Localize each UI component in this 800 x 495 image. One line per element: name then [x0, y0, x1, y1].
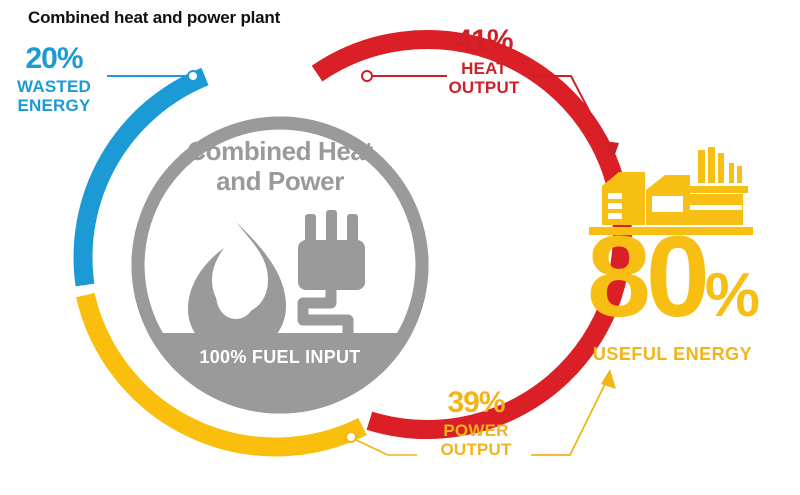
- useful-energy-percent-sign: %: [705, 261, 758, 330]
- useful-energy-value: 80: [587, 213, 705, 341]
- wasted-label-2: ENERGY: [4, 97, 104, 114]
- callout-wasted-energy: 20% WASTED ENERGY: [4, 44, 104, 114]
- center-heading-line-1: Combined Heat: [150, 136, 410, 166]
- power-label-1: POWER: [420, 422, 532, 439]
- useful-energy-number: 80%: [565, 227, 780, 346]
- center-heading: Combined Heat and Power: [150, 136, 410, 196]
- useful-energy-label: USEFUL ENERGY: [565, 344, 780, 365]
- center-heading-line-2: and Power: [150, 166, 410, 196]
- heat-label-2: OUTPUT: [430, 79, 538, 96]
- infographic-canvas: Combined heat and power plant 20% WASTED…: [0, 0, 800, 495]
- heat-percent: 41%: [430, 26, 538, 56]
- callout-power-output: 39% POWER OUTPUT: [420, 388, 532, 458]
- fuel-input-label: 100% FUEL INPUT: [150, 347, 410, 368]
- power-label-2: OUTPUT: [420, 441, 532, 458]
- wasted-percent: 20%: [4, 44, 104, 74]
- useful-energy-block: 80% USEFUL ENERGY: [565, 155, 780, 365]
- callout-heat-output: 41% HEAT OUTPUT: [430, 26, 538, 96]
- wasted-label-1: WASTED: [4, 78, 104, 95]
- page-title: Combined heat and power plant: [28, 8, 280, 28]
- heat-label-1: HEAT: [430, 60, 538, 77]
- power-percent: 39%: [420, 388, 532, 418]
